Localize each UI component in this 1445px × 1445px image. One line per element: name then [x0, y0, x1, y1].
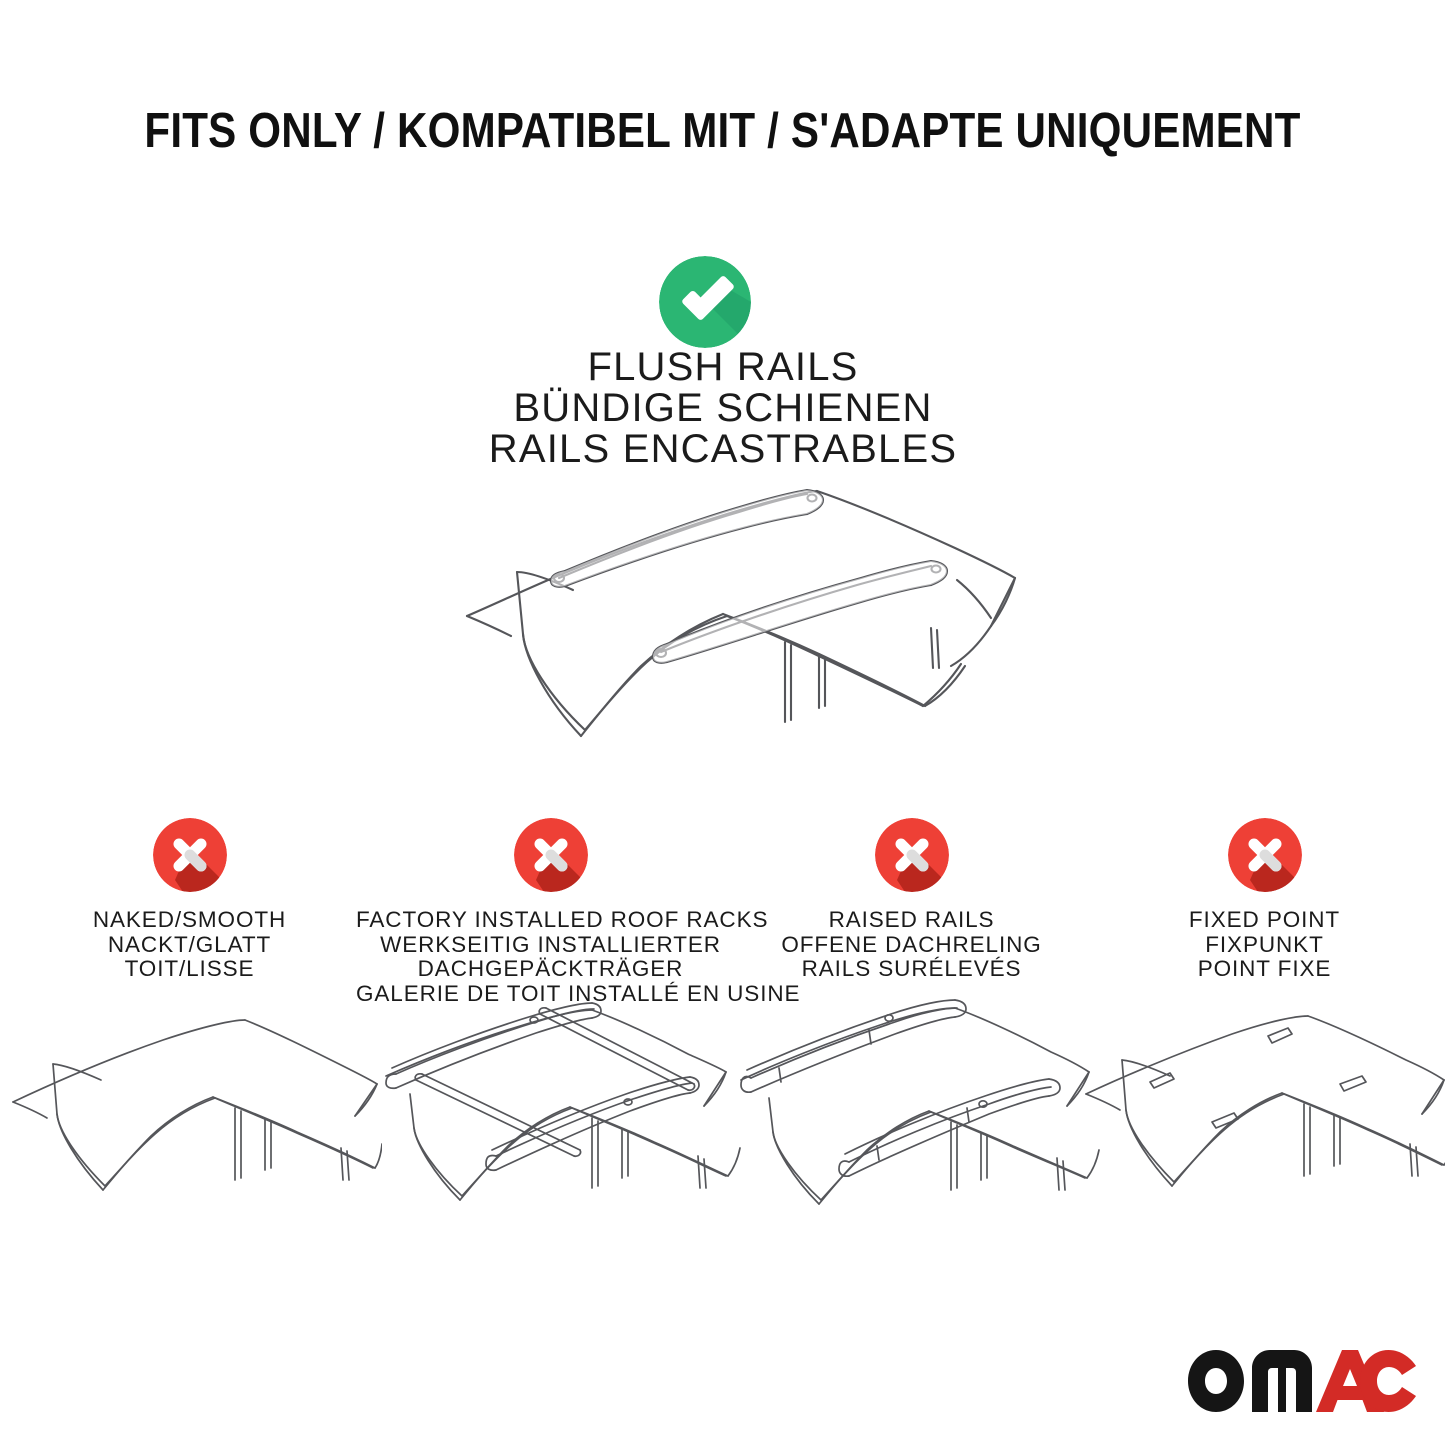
incompatible-label-raised-rails: RAISED RAILS OFFENE DACHRELING RAILS SUR… [717, 908, 1106, 982]
incompatible-column-factory-roof-racks: FACTORY INSTALLED ROOF RACKS WERKSEITIG … [370, 818, 731, 1248]
compatible-label: FLUSH RAILS BÜNDIGE SCHIENEN RAILS ENCAS… [323, 347, 1123, 470]
label-line-fr: TOIT/LISSE [0, 957, 384, 982]
x-circle-icon [1228, 818, 1302, 892]
label-line-de: FIXPUNKT [1070, 933, 1445, 958]
label-line-de-1: WERKSEITIG INSTALLIERTER [356, 933, 745, 958]
incompatible-column-fixed-point: FIXED POINT FIXPUNKT POINT FIXE [1084, 818, 1445, 1248]
incompatible-column-raised-rails: RAISED RAILS OFFENE DACHRELING RAILS SUR… [731, 818, 1092, 1248]
incompatible-label-naked-smooth: NAKED/SMOOTH NACKT/GLATT TOIT/LISSE [0, 908, 384, 982]
car-roof-with-flush-rails-illustration [455, 468, 1030, 768]
omac-logo [1186, 1344, 1418, 1418]
compatibility-infographic: FITS ONLY / KOMPATIBEL MIT / S'ADAPTE UN… [0, 0, 1445, 1445]
label-line-fr: POINT FIXE [1070, 957, 1445, 982]
incompatible-label-factory-roof-racks: FACTORY INSTALLED ROOF RACKS WERKSEITIG … [356, 908, 745, 1006]
label-line-en: RAISED RAILS [717, 908, 1106, 933]
compatible-label-line-en: FLUSH RAILS [323, 347, 1123, 388]
car-roof-fixed-point-illustration [1072, 998, 1445, 1228]
check-circle-icon [659, 256, 751, 348]
label-line-en: FIXED POINT [1070, 908, 1445, 933]
compatible-label-line-de: BÜNDIGE SCHIENEN [323, 388, 1123, 429]
car-roof-naked-smooth-illustration [0, 998, 382, 1228]
car-roof-with-raised-rails-illustration [719, 998, 1104, 1228]
label-line-en: FACTORY INSTALLED ROOF RACKS [356, 908, 745, 933]
x-circle-icon [153, 818, 227, 892]
label-line-fr: RAILS SURÉLEVÉS [717, 957, 1106, 982]
car-roof-with-factory-roof-racks-illustration [358, 998, 743, 1228]
label-line-en: NAKED/SMOOTH [0, 908, 384, 933]
label-line-de: NACKT/GLATT [0, 933, 384, 958]
label-line-de: OFFENE DACHRELING [717, 933, 1106, 958]
page-title: FITS ONLY / KOMPATIBEL MIT / S'ADAPTE UN… [101, 103, 1344, 159]
label-line-de-2: DACHGEPÄCKTRÄGER [356, 957, 745, 982]
compatible-label-line-fr: RAILS ENCASTRABLES [323, 429, 1123, 470]
incompatible-label-fixed-point: FIXED POINT FIXPUNKT POINT FIXE [1070, 908, 1445, 982]
incompatible-column-naked-smooth: NAKED/SMOOTH NACKT/GLATT TOIT/LISSE [9, 818, 370, 1248]
x-circle-icon [514, 818, 588, 892]
x-circle-icon [875, 818, 949, 892]
